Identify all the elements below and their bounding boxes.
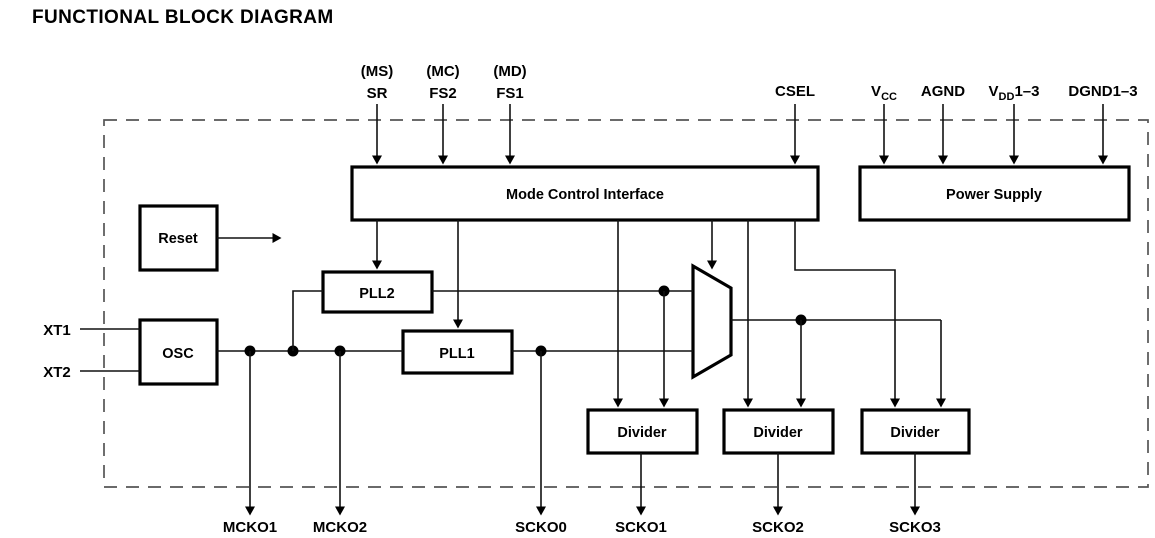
pin-label-xt2: XT2 <box>43 364 71 381</box>
pin-label-fs2-alt: (MC) <box>426 63 459 80</box>
pin-label-fs2: FS2 <box>429 85 457 102</box>
label-divider-1: Divider <box>617 425 667 441</box>
label-osc: OSC <box>162 346 194 362</box>
label-divider-2: Divider <box>753 425 803 441</box>
wire-osc-to-pll2 <box>293 291 323 351</box>
pin-label-fs1-alt: (MD) <box>493 63 526 80</box>
pin-label-vcc: VCC <box>871 83 897 103</box>
wire-csel-to-divider3 <box>795 220 895 400</box>
label-mode-control-interface: Mode Control Interface <box>506 187 664 203</box>
label-pll1: PLL1 <box>439 346 474 362</box>
pin-label-mcko1: MCKO1 <box>223 519 277 536</box>
pin-label-sr-alt: (MS) <box>361 63 394 80</box>
pin-label-scko1: SCKO1 <box>615 519 667 536</box>
pin-label-vdd: VDD1–3 <box>989 83 1040 103</box>
pin-label-sr: SR <box>367 85 388 102</box>
label-reset: Reset <box>158 231 198 247</box>
pin-label-xt1: XT1 <box>43 322 71 339</box>
pin-label-dgnd: DGND1–3 <box>1068 83 1137 100</box>
pin-label-fs1: FS1 <box>496 85 524 102</box>
pin-label-scko3: SCKO3 <box>889 519 941 536</box>
pin-label-mcko2: MCKO2 <box>313 519 367 536</box>
label-pll2: PLL2 <box>359 286 394 302</box>
label-power-supply: Power Supply <box>946 187 1042 203</box>
label-divider-3: Divider <box>890 425 940 441</box>
pin-label-agnd: AGND <box>921 83 965 100</box>
pin-label-csel: CSEL <box>775 83 815 100</box>
block-multiplexer <box>693 266 731 377</box>
pin-label-scko2: SCKO2 <box>752 519 804 536</box>
pin-label-scko0: SCKO0 <box>515 519 567 536</box>
functional-block-diagram: Mode Control Interface Power Supply Rese… <box>0 0 1155 538</box>
